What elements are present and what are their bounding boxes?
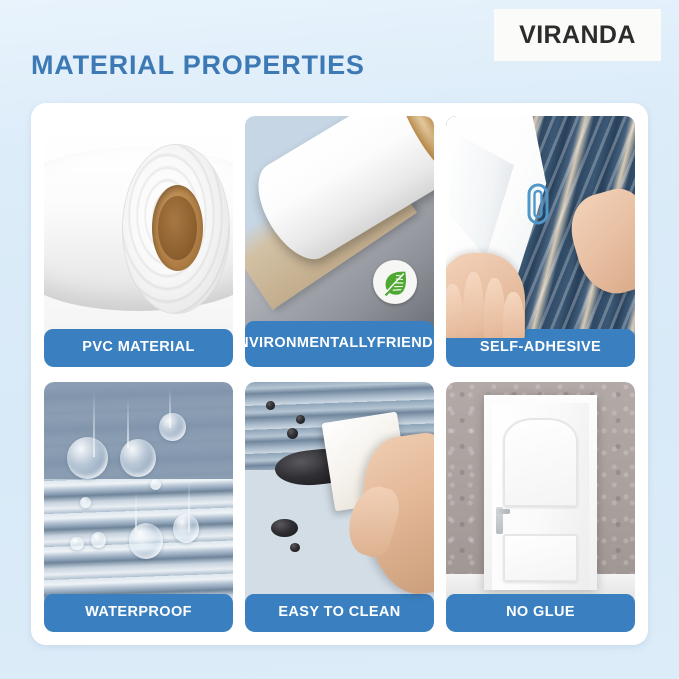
water-droplet: [129, 523, 163, 558]
feature-tile-pvc-material[interactable]: PVC MATERIAL: [44, 116, 233, 367]
water-droplet: [150, 479, 161, 490]
water-droplet: [91, 532, 106, 548]
water-droplet: [159, 413, 185, 442]
easy-to-clean-image: [245, 382, 434, 604]
leaf-icon: [373, 260, 417, 304]
pvc-roll-core-inner: [158, 196, 197, 260]
stain: [290, 543, 299, 552]
water-droplet: [67, 437, 109, 479]
finger: [503, 292, 524, 337]
door-frame: [484, 395, 597, 590]
page-title: MATERIAL PROPERTIES: [31, 50, 365, 81]
hand-left: [446, 253, 525, 337]
stain: [296, 415, 305, 424]
feature-label-line2: FRIENDLY: [377, 336, 434, 352]
brand-logo-box: VIRANDA: [494, 9, 661, 61]
feature-label-no-glue: NO GLUE: [446, 594, 635, 632]
eco-wallpaper-image: [245, 116, 434, 330]
self-adhesive-image: [446, 116, 635, 338]
water-droplet: [120, 439, 156, 477]
feature-tile-waterproof[interactable]: WATERPROOF: [44, 382, 233, 633]
door-handle: [496, 507, 504, 533]
water-droplet: [70, 537, 83, 550]
eco-roll-tip: [390, 116, 434, 183]
stain: [271, 519, 297, 537]
feature-tile-easy-to-clean[interactable]: EASY TO CLEAN: [245, 382, 434, 633]
feature-tile-environmentally-friendly[interactable]: ENVIRONMENTALLY FRIENDLY: [245, 116, 434, 367]
waterproof-image: [44, 382, 233, 604]
door-panel-top: [503, 418, 577, 508]
feature-label-pvc-material: PVC MATERIAL: [44, 329, 233, 367]
water-droplet: [80, 497, 91, 508]
feature-label-easy-to-clean: EASY TO CLEAN: [245, 594, 434, 632]
finger: [484, 278, 505, 338]
feature-label-environmentally-friendly: ENVIRONMENTALLY FRIENDLY: [245, 321, 434, 367]
feature-label-line1: ENVIRONMENTALLY: [245, 336, 377, 352]
door-panel-bottom: [503, 534, 577, 583]
feature-tile-no-glue[interactable]: NO GLUE: [446, 382, 635, 633]
feature-tile-self-adhesive[interactable]: SELF-ADHESIVE: [446, 116, 635, 367]
features-card: PVC MATERIAL: [31, 103, 648, 645]
finger: [446, 284, 463, 338]
door-leaf: [492, 403, 590, 590]
no-glue-door-image: [446, 382, 635, 604]
water-droplet: [173, 514, 199, 543]
feature-label-waterproof: WATERPROOF: [44, 594, 233, 632]
stain: [287, 428, 298, 439]
pvc-roll-image: [44, 116, 233, 338]
pvc-roll-end: [123, 145, 229, 313]
pvc-roll-core: [152, 185, 203, 271]
brand-name: VIRANDA: [519, 21, 636, 50]
features-grid: PVC MATERIAL: [44, 116, 635, 632]
paperclip-icon: [525, 182, 551, 231]
finger: [463, 272, 484, 338]
